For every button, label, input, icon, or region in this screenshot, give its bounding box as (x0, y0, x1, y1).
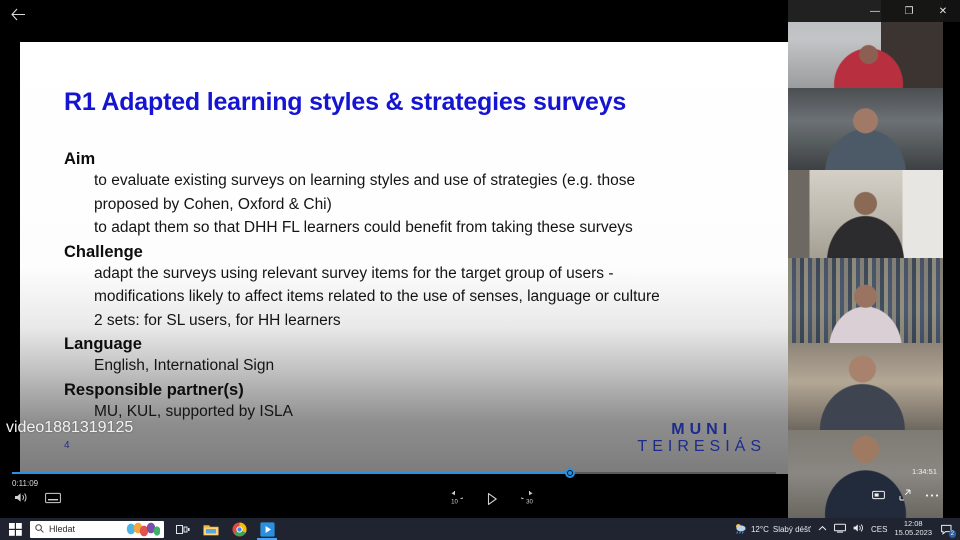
weather-rain-icon (734, 523, 747, 536)
participant-rail: 1:34:51 (788, 0, 943, 518)
seek-handle[interactable] (565, 468, 575, 478)
slide-section-language: Language English, International Sign (64, 335, 764, 378)
weather-temperature: 12°C (751, 525, 769, 534)
slide-section-aim: Aim to evaluate existing surveys on lear… (64, 150, 764, 240)
participant-tile[interactable] (788, 343, 943, 430)
closed-captions-icon[interactable] (45, 492, 61, 504)
show-hidden-icons-chevron-icon[interactable] (818, 525, 827, 534)
slide-title: R1 Adapted learning styles & strategies … (64, 88, 626, 117)
call-elapsed-time: 1:34:51 (912, 467, 937, 476)
section-heading: Responsible partner(s) (64, 381, 764, 400)
back-button[interactable] (4, 2, 32, 26)
section-heading: Language (64, 335, 764, 354)
windows-start-icon[interactable] (0, 518, 30, 540)
video-watermark: video1881319125 (6, 419, 133, 437)
video-player: R1 Adapted learning styles & strategies … (0, 0, 788, 518)
taskbar-apps (170, 518, 280, 540)
section-line: proposed by Cohen, Oxford & Chi) (94, 193, 764, 217)
taskbar-clock[interactable]: 12:08 15.05.2023 (894, 520, 932, 538)
system-tray: 12°C Slabý déšť CES (734, 520, 960, 538)
section-line: to evaluate existing surveys on learning… (94, 169, 764, 193)
keyboard-layout-indicator[interactable]: CES (871, 525, 887, 534)
slide-section-responsible-partners: Responsible partner(s) MU, KUL, supporte… (64, 381, 764, 424)
search-icon (35, 520, 44, 538)
slide-page-number: 4 (64, 440, 70, 451)
section-line: adapt the surveys using relevant survey … (94, 262, 764, 286)
participant-tile[interactable] (788, 88, 943, 170)
speaker-icon[interactable] (14, 491, 29, 504)
section-line: English, International Sign (94, 354, 764, 378)
volume-icon[interactable] (853, 523, 864, 535)
svg-text:30: 30 (526, 499, 533, 505)
desktop-screen: R1 Adapted learning styles & strategies … (0, 0, 960, 540)
network-icon[interactable] (834, 523, 846, 535)
seek-bar[interactable] (12, 468, 776, 478)
presentation-slide: R1 Adapted learning styles & strategies … (20, 42, 788, 474)
search-placeholder: Hledat (49, 524, 75, 534)
task-view-icon[interactable] (170, 518, 196, 540)
weather-description: Slabý déšť (773, 525, 811, 534)
section-line: 2 sets: for SL users, for HH learners (94, 309, 764, 333)
section-line: to adapt them so that DHH FL learners co… (94, 216, 764, 240)
player-transport-controls: 10 30 (446, 491, 538, 506)
play-button[interactable] (485, 492, 499, 506)
logo-line-muni: MUNI (637, 421, 766, 439)
player-left-controls (14, 491, 61, 504)
current-time-label: 0:11:09 (12, 479, 38, 488)
colorful-hands-icon (126, 522, 160, 540)
search-input[interactable]: Hledat (30, 521, 164, 538)
section-heading: Challenge (64, 243, 764, 262)
more-options-icon[interactable] (925, 493, 939, 498)
svg-text:10: 10 (451, 499, 458, 505)
rail-controls (872, 489, 939, 501)
muni-teiresias-logo: MUNI TEIRESIÁS (637, 421, 766, 456)
expand-icon[interactable] (899, 489, 911, 501)
participant-tile[interactable] (788, 258, 943, 343)
forward-30-button[interactable]: 30 (521, 491, 538, 506)
seek-progress-fill (12, 472, 570, 474)
rewind-10-button[interactable]: 10 (446, 491, 463, 506)
section-line: modifications likely to affect items rel… (94, 285, 764, 309)
rail-right-gutter (943, 0, 960, 518)
windows-taskbar: Hledat (0, 518, 960, 540)
maximize-button[interactable]: ❐ (892, 0, 926, 22)
media-player-icon[interactable] (254, 518, 280, 540)
logo-line-teiresias: TEIRESIÁS (637, 438, 766, 456)
participant-tile[interactable] (788, 170, 943, 258)
slide-body: Aim to evaluate existing surveys on lear… (64, 147, 764, 424)
notification-center-icon[interactable]: 2 (939, 521, 955, 537)
file-explorer-icon[interactable] (198, 518, 224, 540)
notification-badge: 2 (949, 530, 956, 538)
slide-section-challenge: Challenge adapt the surveys using releva… (64, 243, 764, 333)
close-button[interactable]: ✕ (926, 0, 960, 22)
chrome-icon[interactable] (226, 518, 252, 540)
pin-video-icon[interactable] (872, 490, 885, 500)
weather-widget[interactable]: 12°C Slabý déšť (734, 523, 811, 536)
section-heading: Aim (64, 150, 764, 169)
minimize-button[interactable]: — (858, 0, 892, 22)
window-controls: — ❐ ✕ (788, 0, 960, 22)
clock-date: 15.05.2023 (894, 529, 932, 538)
